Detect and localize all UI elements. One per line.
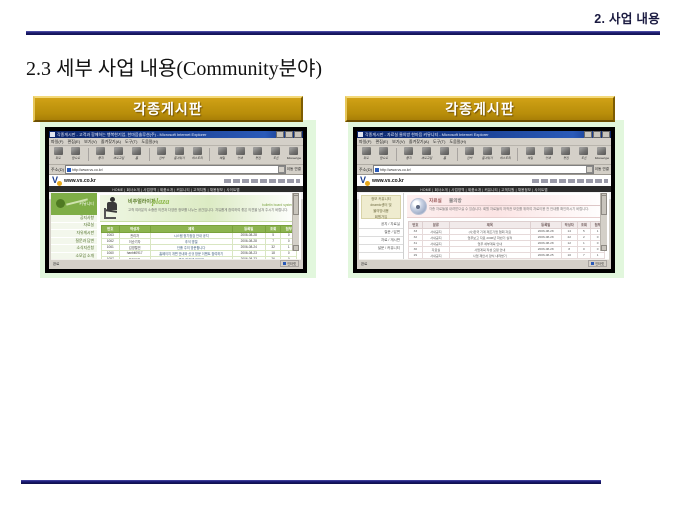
print-button[interactable]: 인쇄 xyxy=(541,147,555,160)
menu-item-file[interactable]: 파일(F) xyxy=(359,138,371,145)
discuss-button[interactable]: 토론 xyxy=(577,147,591,160)
sidebar-hero: 커뮤니티 xyxy=(51,193,97,215)
right-browser-window: 각종게시판 - 자료실 물의방 한마음 커뮤니티 - Microsoft Int… xyxy=(353,127,615,273)
search-button[interactable]: 검색 xyxy=(462,147,476,160)
page-title: 2.3 세부 사업 내용(Community분야) xyxy=(26,52,322,81)
utility-links[interactable] xyxy=(532,179,608,183)
toolbar-divider xyxy=(209,148,210,161)
sidebar-item-qna[interactable]: 질문 / 답변 xyxy=(359,229,403,237)
left-banner-label: 각종게시판 xyxy=(133,99,202,119)
menu-item-favorites[interactable]: 즐겨찾기(A) xyxy=(409,138,429,145)
right-banner: 각종게시판 xyxy=(345,96,615,122)
forward-icon xyxy=(379,147,388,155)
toolbar-divider xyxy=(88,148,89,161)
sidebar-item-label: 질문 / 답변 xyxy=(384,230,400,235)
links-button[interactable]: 연결 xyxy=(602,167,609,172)
stop-button[interactable]: 중지 xyxy=(402,147,416,160)
address-input[interactable]: http://www.vs.co.kr/ xyxy=(65,165,286,174)
sidebar-item-label: 소식지신청 xyxy=(77,246,94,251)
scroll-down-icon[interactable] xyxy=(293,245,299,251)
sidebar-item-notice-data[interactable]: 공지 / 자료실 xyxy=(359,221,403,229)
discuss-icon xyxy=(271,147,280,155)
refresh-icon xyxy=(114,147,123,155)
go-button[interactable]: 이동 xyxy=(595,167,602,172)
window-controls[interactable] xyxy=(276,131,302,138)
forward-button[interactable]: 앞으로 xyxy=(69,147,83,160)
board-table: 번호 작성자 제목 등록일 조회 첨부 1063관리자시스템 정기점검 안내 공… xyxy=(101,225,297,260)
home-button[interactable]: 홈 xyxy=(438,147,452,160)
refresh-button[interactable]: 새로고침 xyxy=(112,147,126,160)
stop-icon xyxy=(96,147,105,155)
menu-item-tools[interactable]: 도구(T) xyxy=(125,138,137,145)
minimize-icon[interactable] xyxy=(276,131,284,138)
back-button[interactable]: 뒤로 xyxy=(51,147,65,160)
print-icon xyxy=(236,147,245,155)
data-table: 번호 분류 제목 등록일 작성자 조회 첨부 33사내공지(사)한국 기계 제조… xyxy=(408,221,605,260)
home-icon xyxy=(132,147,141,155)
sidebar-info-line: 물의방내용 xyxy=(373,208,389,213)
site-nav-items[interactable]: HOME | 회사소개 | 사업영역 | 제품소개 | 커뮤니티 | 고객지원 … xyxy=(420,187,547,192)
vertical-scrollbar[interactable] xyxy=(292,193,299,251)
menu-bar[interactable]: 파일(F) 편집(E) 보기(V) 즐겨찾기(A) 도구(T) 도움말(H) xyxy=(49,138,303,146)
mail-button[interactable]: 메일 xyxy=(215,147,229,160)
left-banner: 각종게시판 xyxy=(33,96,303,122)
back-icon xyxy=(362,147,371,155)
slide-header-label: 2. 사업 내용 xyxy=(594,8,660,27)
sidebar-item-data[interactable]: 자료실 xyxy=(51,223,97,231)
page-icon xyxy=(67,168,71,172)
zone-text: 인터넷 xyxy=(287,261,296,266)
home-icon xyxy=(440,147,449,155)
favorites-icon xyxy=(175,147,184,155)
banner-tagline: bulletin board system xyxy=(262,203,294,207)
address-label: 주소(D) xyxy=(51,167,64,173)
person-icon xyxy=(56,199,65,208)
zone-icon xyxy=(591,262,594,265)
sidebar-item-label: 자료실 xyxy=(84,223,94,228)
sidebar-info-line: 정보 커뮤니티 xyxy=(371,196,391,201)
menu-item-file[interactable]: 파일(F) xyxy=(51,138,63,145)
print-button[interactable]: 인쇄 xyxy=(233,147,247,160)
footer-rule xyxy=(21,480,601,484)
maximize-icon[interactable] xyxy=(593,131,601,138)
stop-icon xyxy=(404,147,413,155)
maximize-icon[interactable] xyxy=(285,131,293,138)
divider xyxy=(429,205,602,206)
ie-icon xyxy=(50,132,55,137)
titlebar: 각종게시판 - 자료실 물의방 한마음 커뮤니티 - Microsoft Int… xyxy=(357,131,611,138)
address-value: http://www.vs.co.kr/ xyxy=(380,168,411,172)
banner-title-en: plaza xyxy=(152,197,169,206)
messenger-button[interactable]: Messenger xyxy=(287,147,301,160)
sidebar-hero-label: 커뮤니티 xyxy=(79,201,94,207)
mail-button[interactable]: 메일 xyxy=(523,147,537,160)
zone-icon xyxy=(283,262,286,265)
forward-button[interactable]: 앞으로 xyxy=(377,147,391,160)
edit-button[interactable]: 편집 xyxy=(559,147,573,160)
favorites-button[interactable]: 즐겨찾기 xyxy=(480,147,494,160)
toolbar-divider xyxy=(149,148,150,161)
favorites-button[interactable]: 즐겨찾기 xyxy=(172,147,186,160)
sidebar-item-label: 공지 / 자료실 xyxy=(381,222,400,227)
edit-icon xyxy=(561,147,570,155)
content-header: 자료실 물의방 각종 자료들을 내려받으실 수 있습니다. 회원 자료들의 저작… xyxy=(407,195,606,218)
right-banner-label: 각종게시판 xyxy=(445,99,514,119)
sidebar-signup-link[interactable]: 회원가입 xyxy=(375,214,387,219)
sidebar-item-community[interactable]: 설문 / 커뮤니티 xyxy=(359,245,403,253)
history-icon xyxy=(501,147,510,155)
stop-button[interactable]: 중지 xyxy=(94,147,108,160)
status-text: 완료 xyxy=(53,261,59,266)
ie-icon xyxy=(358,132,363,137)
disc-icon xyxy=(410,198,427,215)
history-icon xyxy=(193,147,202,155)
scroll-thumb[interactable] xyxy=(293,195,299,215)
menu-item-view[interactable]: 보기(V) xyxy=(84,138,97,145)
scroll-down-icon[interactable] xyxy=(601,245,607,251)
close-icon[interactable] xyxy=(602,131,610,138)
site-header: V www.vs.co.kr xyxy=(357,175,611,186)
menu-item-help[interactable]: 도움말(H) xyxy=(141,138,158,145)
address-bar[interactable]: 주소(D) http://www.vs.co.kr/ 이동 연결 xyxy=(357,165,611,175)
site-nav-items[interactable]: HOME | 회사소개 | 사업영역 | 제품소개 | 커뮤니티 | 고객지원 … xyxy=(112,187,239,192)
menu-bar[interactable]: 파일(F) 편집(E) 보기(V) 즐겨찾기(A) 도구(T) 도움말(H) xyxy=(357,138,611,146)
minimize-icon[interactable] xyxy=(584,131,592,138)
address-input[interactable]: http://www.vs.co.kr/ xyxy=(373,165,594,174)
forward-icon xyxy=(71,147,80,155)
chevron-down-icon[interactable] xyxy=(278,166,285,173)
refresh-icon xyxy=(422,147,431,155)
menu-item-edit[interactable]: 편집(E) xyxy=(375,138,388,145)
edit-icon xyxy=(253,147,262,155)
right-site-main: 자료실 물의방 각종 자료들을 내려받으실 수 있습니다. 회원 자료들의 저작… xyxy=(404,193,609,260)
address-bar[interactable]: 주소(D) http://www.vs.co.kr/ 이동 연결 xyxy=(49,165,303,175)
messenger-icon xyxy=(597,147,606,155)
sidebar-item-label: 자유게시판 xyxy=(77,231,94,236)
back-button[interactable]: 뒤로 xyxy=(359,147,373,160)
left-site-sidebar: 커뮤니티 공지사항 자료실 자유게시판 질문과 답변 소식지신청 소모임 소개 … xyxy=(51,193,97,260)
header-rule xyxy=(26,31,660,35)
discuss-icon xyxy=(579,147,588,155)
security-zone: 인터넷 xyxy=(280,260,299,267)
sidebar-item-label: 자료 / 게시판 xyxy=(381,238,400,243)
person-illustration-icon xyxy=(103,197,123,219)
edit-button[interactable]: 편집 xyxy=(251,147,265,160)
sidebar-info-line: dnamic센터 및 xyxy=(370,202,391,207)
home-button[interactable]: 홈 xyxy=(130,147,144,160)
discuss-button[interactable]: 토론 xyxy=(269,147,283,160)
search-icon xyxy=(465,147,474,155)
sidebar-item-news[interactable]: 소식지신청 xyxy=(51,245,97,253)
menu-item-edit[interactable]: 편집(E) xyxy=(67,138,80,145)
content-description: 각종 자료들을 내려받으실 수 있습니다. 회원 자료들의 저작권 보호를 위하… xyxy=(429,207,602,211)
messenger-icon xyxy=(289,147,298,155)
vertical-scrollbar[interactable] xyxy=(600,193,607,251)
logo-dot-icon xyxy=(365,181,370,186)
left-browser-window: 각종게시판 - 고객과 함께하는 행복한기업, 한마음솔루션(주) - Micr… xyxy=(45,127,307,273)
status-bar: 완료 인터넷 xyxy=(51,259,301,267)
zone-text: 인터넷 xyxy=(595,261,604,266)
sidebar-item-qna[interactable]: 질문과 답변 xyxy=(51,238,97,246)
titlebar: 각종게시판 - 고객과 함께하는 행복한기업, 한마음솔루션(주) - Micr… xyxy=(49,131,303,138)
menu-item-view[interactable]: 보기(V) xyxy=(392,138,405,145)
page-icon xyxy=(375,168,379,172)
print-icon xyxy=(544,147,553,155)
status-text: 완료 xyxy=(361,261,367,266)
sidebar-item-notice[interactable]: 공지사항 xyxy=(51,215,97,223)
address-value: http://www.vs.co.kr/ xyxy=(72,168,103,172)
site-domain: www.vs.co.kr xyxy=(64,178,96,184)
browser-toolbar[interactable]: 뒤로 앞으로 중지 새로고침 홈 검색 즐겨찾기 히스토리 메일 인쇄 편집 토… xyxy=(49,146,303,165)
messenger-button[interactable]: Messenger xyxy=(595,147,609,160)
banner-description: 고객 여러분의 소중한 의견과 다양한 정보를 나누는 공간입니다. 자유롭게 … xyxy=(128,208,294,212)
scroll-thumb[interactable] xyxy=(601,195,607,215)
right-site-sidebar: 정보 커뮤니티 dnamic센터 및 물의방내용 회원가입 공지 / 자료실 질… xyxy=(359,193,404,260)
site-header: V www.vs.co.kr xyxy=(49,175,303,186)
logo-dot-icon xyxy=(57,181,62,186)
refresh-button[interactable]: 새로고침 xyxy=(420,147,434,160)
sidebar-item-board[interactable]: 자료 / 게시판 xyxy=(359,237,403,245)
menu-item-help[interactable]: 도움말(H) xyxy=(449,138,466,145)
address-label: 주소(D) xyxy=(359,167,372,173)
window-title: 각종게시판 - 자료실 물의방 한마음 커뮤니티 - Microsoft Int… xyxy=(365,131,584,138)
menu-item-tools[interactable]: 도구(T) xyxy=(433,138,445,145)
search-icon xyxy=(157,147,166,155)
sidebar-item-label: 설문 / 커뮤니티 xyxy=(378,246,400,251)
search-button[interactable]: 검색 xyxy=(154,147,168,160)
content-title-sub: 물의방 xyxy=(449,198,462,204)
toolbar-divider xyxy=(396,148,397,161)
left-site-main: 비주얼라이저 plaza bulletin board system 고객 여러… xyxy=(97,193,301,260)
toolbar-divider xyxy=(517,148,518,161)
sidebar-item-label: 질문과 답변 xyxy=(75,239,94,244)
table-cell[interactable]: 홈페이지 개편 안내와 신규 방문 이벤트 참여하기 xyxy=(150,250,232,256)
content-banner: 비주얼라이저 plaza bulletin board system 고객 여러… xyxy=(100,195,298,222)
close-icon[interactable] xyxy=(294,131,302,138)
back-icon xyxy=(54,147,63,155)
menu-item-favorites[interactable]: 즐겨찾기(A) xyxy=(101,138,121,145)
site-domain: www.vs.co.kr xyxy=(372,178,404,184)
sidebar-item-free[interactable]: 자유게시판 xyxy=(51,230,97,238)
chevron-down-icon[interactable] xyxy=(586,166,593,173)
links-button[interactable]: 연결 xyxy=(294,167,301,172)
toolbar-divider xyxy=(457,148,458,161)
mail-icon xyxy=(218,147,227,155)
favorites-icon xyxy=(483,147,492,155)
window-controls[interactable] xyxy=(584,131,610,138)
status-bar: 완료 인터넷 xyxy=(359,259,609,267)
mail-icon xyxy=(526,147,535,155)
security-zone: 인터넷 xyxy=(588,260,607,267)
content-title-ko: 자료실 xyxy=(429,198,442,204)
history-button[interactable]: 히스토리 xyxy=(498,147,512,160)
utility-links[interactable] xyxy=(224,179,300,183)
sidebar-item-label: 공지사항 xyxy=(80,216,94,221)
go-button[interactable]: 이동 xyxy=(287,167,294,172)
history-button[interactable]: 히스토리 xyxy=(190,147,204,160)
browser-toolbar[interactable]: 뒤로 앞으로 중지 새로고침 홈 검색 즐겨찾기 히스토리 메일 인쇄 편집 토… xyxy=(357,146,611,165)
window-title: 각종게시판 - 고객과 함께하는 행복한기업, 한마음솔루션(주) - Micr… xyxy=(57,131,276,138)
sidebar-info-box: 정보 커뮤니티 dnamic센터 및 물의방내용 회원가입 xyxy=(361,195,401,219)
